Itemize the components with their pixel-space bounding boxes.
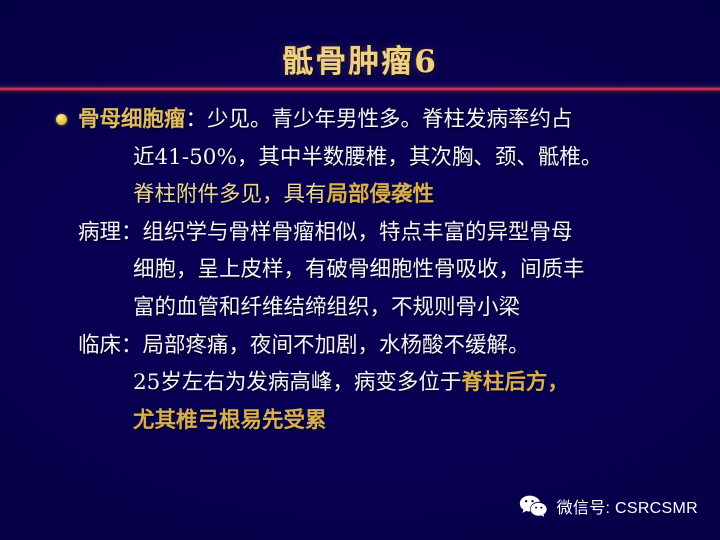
text-segment: 近41-50%，其中半数腰椎，其次胸、颈、骶椎。 [133, 145, 602, 170]
text-line: 临床：局部疼痛，夜间不加剧，水杨酸不缓解。 [0, 327, 720, 365]
title-divider [0, 87, 720, 91]
text-line: 尤其椎弓根易先受累 [0, 402, 720, 440]
bullet-line: 骨母细胞瘤：少见。青少年男性多。脊柱发病率约占 [0, 101, 720, 139]
text-line: 富的血管和纤维结缔组织，不规则骨小梁 [0, 289, 720, 327]
text-segment: 富的血管和纤维结缔组织，不规则骨小梁 [133, 295, 520, 320]
bullet-dot-icon [56, 114, 67, 125]
wechat-icon [518, 494, 548, 518]
text-segment: 脊柱附件多见，具有 [133, 182, 327, 207]
text-line: 病理：组织学与骨样骨瘤相似，特点丰富的异型骨母 [0, 214, 720, 252]
title-area: 骶骨肿瘤6 [0, 0, 720, 92]
page-title: 骶骨肿瘤6 [0, 36, 720, 81]
text-segment: 25岁左右为发病高峰，病变多位于 [133, 370, 461, 395]
slide-body: 骨母细胞瘤：少见。青少年男性多。脊柱发病率约占近41-50%，其中半数腰椎，其次… [0, 101, 720, 439]
wechat-id-label: 微信号: CSRCSMR [557, 494, 698, 518]
text-segment: 病理：组织学与骨样骨瘤相似，特点丰富的异型骨母 [78, 220, 573, 245]
text-line: 近41-50%，其中半数腰椎，其次胸、颈、骶椎。 [0, 139, 720, 177]
text-line: 细胞，呈上皮样，有破骨细胞性骨吸收，间质丰 [0, 251, 720, 289]
slide-canvas: 骶骨肿瘤6 骨母细胞瘤：少见。青少年男性多。脊柱发病率约占近41-50%，其中半… [0, 0, 720, 540]
text-segment: 局部侵袭性 [327, 182, 435, 207]
wechat-watermark: 微信号: CSRCSMR [518, 494, 698, 518]
text-segment: 临床：局部疼痛，夜间不加剧，水杨酸不缓解。 [78, 333, 530, 358]
text-segment: 尤其椎弓根易先受累 [133, 408, 327, 433]
text-line: 脊柱附件多见，具有局部侵袭性 [0, 176, 720, 214]
text-segment: 脊柱后方， [461, 370, 569, 395]
text-segment: 细胞，呈上皮样，有破骨细胞性骨吸收，间质丰 [133, 257, 585, 282]
text-line: 25岁左右为发病高峰，病变多位于脊柱后方， [0, 364, 720, 402]
text-segment: 骨母细胞瘤 [78, 107, 186, 132]
text-segment: ：少见。青少年男性多。脊柱发病率约占 [186, 107, 573, 132]
